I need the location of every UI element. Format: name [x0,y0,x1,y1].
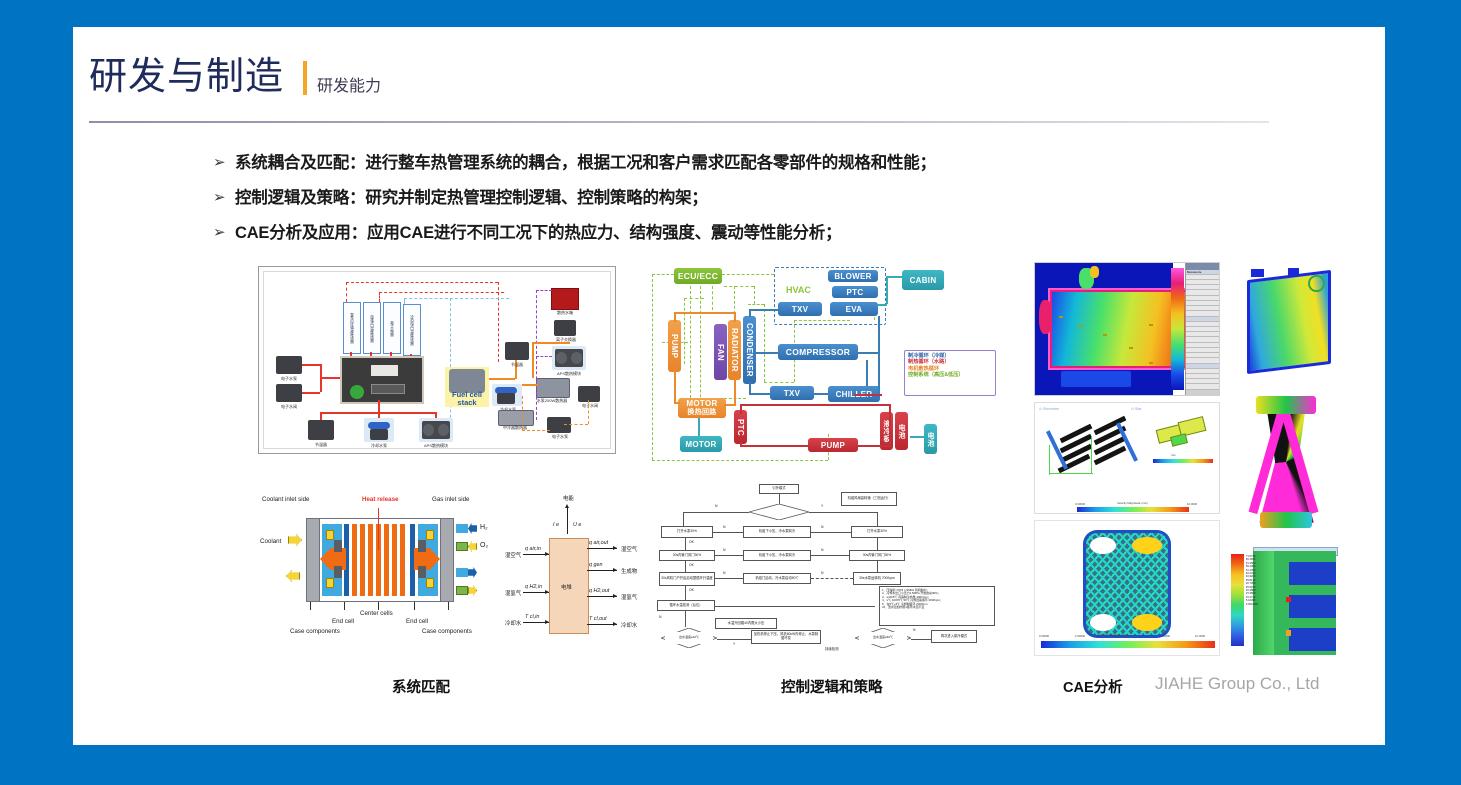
fuel-cell-stack-label: Fuel cell stack [445,391,489,407]
branch-ok-2: OK [689,563,694,567]
block-motor-heat-exchange-loop: MOTOR 换热回路 [678,398,726,418]
output-symbol-coolant: T cl,out [589,616,607,622]
component-label: 冷却水泵 [362,443,396,449]
output-symbol-air: q air,out [589,540,608,546]
block-txv-chiller: TXV [770,386,814,400]
label-h2: H₂ [480,524,488,531]
symbol-voltage: U e [573,522,581,528]
block-eva: EVA [830,302,878,316]
flow-decision-outlet-40: 出水温度≥40℃ [665,632,713,644]
intercooler-radiator [498,410,534,426]
component-label: 电子水阀 [575,403,605,409]
caption-cae-analysis: CAE分析 [1063,676,1123,697]
component-label: 电子水泵 [544,434,576,440]
branch-ok-1: OK [689,540,694,544]
block-pump-water: PUMP [808,438,858,452]
cfd-colorbar-label: m/s [1171,453,1176,457]
block-radiator: RADIATOR [728,320,741,380]
component-label: 散热水箱 [547,310,583,316]
electronic-water-pump [276,356,302,374]
flow-open-pump-left: 打开水泵30% [661,526,713,538]
block-battery-teal: 电池 [924,424,937,454]
branch-n: N [715,504,717,508]
cae-torsion-stress [1228,396,1344,528]
input-symbol-coolant: T cl,in [525,614,539,620]
output-label-gen: 生成物 [621,567,637,575]
label-loop-detect: 持续检测 [825,646,839,651]
fuel-cell-block-label: 电堆 [561,583,572,591]
output-symbol-h2: q H2,out [589,588,609,594]
input-label-h2: 湿氢气 [505,589,521,597]
block-ptc-water: PTC [734,410,747,444]
label-coolant: Coolant [260,538,281,545]
thermal-colorbar [1171,268,1184,389]
radiator-outlet [1288,268,1299,276]
block-pump-motor: PUMP [668,320,681,372]
input-symbol-air: q air,in [525,546,541,552]
label-case-components-left: Case components [290,628,340,635]
label-case-components-right: Case components [422,628,472,635]
cfd-title: Velocity Magnitude (m/s) [1117,501,1148,505]
thermal-controller [340,356,424,404]
branch-n-2: N [723,525,725,529]
component-label: APS散热模块 [549,371,589,377]
component-label: 电子水泵 [272,376,306,382]
thermostat [308,420,334,440]
cfd-colorbar-right [1153,459,1213,463]
plate-cfd-tick: 10.0000 [1195,634,1205,638]
input-label-coolant: 冷却水 [505,619,521,627]
branch-y: Y [821,504,823,508]
flow-start: 引外模式 [759,484,799,494]
stress-colorbar [1231,554,1243,646]
label-end-cell-left: End cell [332,618,354,625]
label-end-cell-right: End cell [406,618,428,625]
output-label-coolant: 冷却水 [621,621,637,629]
block-txv-eva: TXV [778,302,822,316]
cfd-colorbar-main [1077,507,1189,512]
component-label: APS散热模块 [417,443,455,449]
input-label-air: 湿空气 [505,551,521,559]
flow-compressor-start: 机组门启动、冷水泵启动50℃ [743,573,811,584]
cae-thermal-imaging: Messwerte [1034,262,1220,396]
ion-exchanger [554,320,576,336]
flow-fan-high-speed: 机组风扇高转速（三档运行） [841,492,897,506]
branch-n-4: N [723,548,725,552]
plate-cfd-colorbar [1041,641,1215,648]
flow-compressor-cool-1: 机组下小压、冷水泵制冷 [743,526,811,538]
flow-damper-30-right: 30s内管门风门30% [849,550,905,561]
label-electric-energy: 电能 [563,494,574,502]
hvac-group-label: HVAC [786,285,811,295]
block-motor-sublabel: 换热回路 [687,408,716,417]
plate-cfd-tick: 2.50000 [1075,634,1085,638]
measure-tag [1103,334,1107,336]
torsion-bottom-flange [1260,512,1311,528]
label-gas-inlet-side: Gas inlet side [432,496,470,503]
note-line-6: x6、温水温加内限1循环水温不变 [882,606,992,610]
end-plate-right [440,518,454,602]
caption-system-matching: 系统匹配 [392,676,450,697]
cfd-tick: 0.00000 [1075,502,1085,506]
output-label-h2: 湿氢气 [621,593,637,601]
measure-tag [1129,347,1133,349]
block-cabin: CABIN [902,270,944,290]
legend-item-control: 控制系统（高压&低压） [908,372,992,378]
block-compressor: COMPRESSOR [778,344,858,360]
label-coolant-inlet-side: Coolant inlet side [262,496,309,503]
radiator-inlet [1251,269,1264,277]
component-label: 电子水阀 [272,404,306,410]
software-watermark: ⊙ Simcenter [1039,407,1059,411]
cfd-tick: 10.0000 [1187,502,1197,506]
label-o2: O₂ [480,542,488,549]
flow-compressor-cool-2: 机组下小压、冷水泵制冷 [743,550,811,561]
cae-radiator-temperature-field [1232,258,1340,396]
electronic-water-valve [276,384,302,402]
block-ptc-hvac: PTC [832,286,878,298]
block-motor: MOTOR [680,436,722,452]
plate-geometry [1083,530,1171,637]
decision-diamond-icon [749,504,809,520]
branch-n-8: N [659,615,661,619]
thermal-measurement-panel: Messwerte [1185,263,1219,395]
plate-cfd-tick: 5.00000 [1160,634,1170,638]
flow-water-temp-check: 循环水温检测（后位） [657,600,715,611]
figure-fuel-cell-stack: Coolant inlet side Heat release Gas inle… [258,492,526,642]
figure-energy-balance: 电能 I e U e 电堆 q air,in 湿空气 q H2,in 湿氢气 T… [505,488,655,648]
sensor-label-3: 离子交换器 [383,302,401,354]
figure-control-flowchart: 引外模式 机内温度≥50±5℃ N Y 机组风扇高转速（三档运行） 打开水泵30… [655,482,995,657]
end-plate-left [306,518,320,602]
label-center-cells: Center cells [360,610,393,617]
measure-tag [1079,325,1083,327]
branch-n-5: N [821,548,823,552]
branch-ok-3: OK [689,588,694,592]
cae-pcb-cooling-cfd: ⊙ Simcenter ⊙ Star m/s Velocity Magnitud… [1034,402,1220,514]
branch-n-6: N [723,571,725,575]
flow-water-loop-limit: 水温升回路40内限大小压 [715,618,777,629]
flow-reenter-cooling: 再次进入制冷模式 [931,630,977,643]
flow-heat-circulate: 30s风机门户开启启动整循环升温度 [659,572,715,586]
figure-hvac-architecture: ECU/ECC HVAC BLOWER PTC TXV EVA CABIN PU… [648,264,996,466]
sensor-label-2: 电堆进口温度传感器 [363,302,381,354]
radiator-200w [536,378,570,398]
flow-damper-30-left: 30s内管门风门30% [659,550,715,561]
measure-tag [1059,316,1063,318]
measure-tag [1149,362,1153,364]
block-battery-red: 电池 [895,412,908,450]
torsion-top-flange [1256,396,1316,414]
block-ecu-ecc: ECU/ECC [674,268,722,284]
water-tank-heater [551,288,579,310]
stress-colorbar-ticks: 71.573066.465061.356056.248051.139046.03… [1246,555,1258,606]
measure-tag [1149,324,1153,326]
branch-n-9: N [913,628,915,632]
output-label-air: 湿空气 [621,545,637,553]
block-condenser: CONDENSER [743,316,756,384]
caption-control-logic: 控制逻辑和策略 [781,676,883,697]
sensor-label-4: 冷热风进口温度传感器 [403,304,421,356]
block-motor-label: MOTOR [686,399,717,408]
hvac-legend: 制冷循环（冷媒） 制热循环（水路） 电机散热循环 控制系统（高压&低压） [904,350,996,396]
water-valve-2 [578,386,600,402]
input-symbol-h2: q H2,in [525,584,542,590]
block-blower: BLOWER [828,270,878,282]
flow-pump-speed: 30s水泵运转机 7000rpm [853,572,901,585]
housing-geometry [1253,551,1336,655]
cae-plate-heat-exchanger: Velocity Magnitude (m/s) 0.00000 2.50000… [1034,520,1220,656]
symbol-current: I e [553,522,559,528]
radiator-port [1308,275,1325,293]
flow-stop-heating: 加热机停止下压、风机60kW内停止、水泵制循环变 [751,630,821,644]
cae-housing-stress: 71.573066.465061.356056.248051.139046.03… [1228,542,1340,660]
fuel-cell-stack: Fuel cell stack [445,367,489,407]
plate-cfd-tick: 0.00000 [1039,634,1049,638]
branch-y-2: Y [733,642,735,646]
figure-area: 整车内环境温度传感器 电堆进口温度传感器 离子交换器 冷热风进口温度传感器 电子… [0,0,1461,785]
branch-n-7: N [821,571,823,575]
component-label: 节温器 [304,442,338,448]
electronic-water-pump-2 [547,417,571,433]
sensor-label-1: 整车内环境温度传感器 [343,302,361,354]
company-watermark: JIAHE Group Co., Ltd [1155,674,1319,694]
component-label: 节温器 [500,362,534,368]
branch-n-3: N [821,525,823,529]
label-heat-release: Heat release [362,496,398,503]
software-watermark-2: ⊙ Star [1131,407,1142,411]
thermostat-2 [505,342,529,360]
plate-cfd-title: Velocity Magnitude (m/s) [1097,633,1128,637]
figure-system-schematic: 整车内环境温度传感器 电堆进口温度传感器 离子交换器 冷热风进口温度传感器 电子… [258,266,616,454]
block-fan: FAN [714,324,727,380]
output-symbol-gen: q gen [589,562,603,568]
flow-decision-outlet-60: 出水温度≥60℃ [859,632,907,644]
flow-open-pump-right: 打开水泵30% [851,526,903,538]
flowchart-note-box: 1、压缩机=70±5 1.9MPa 风机制动； 2、冷却水出口小压力1.5MPa… [879,586,995,626]
